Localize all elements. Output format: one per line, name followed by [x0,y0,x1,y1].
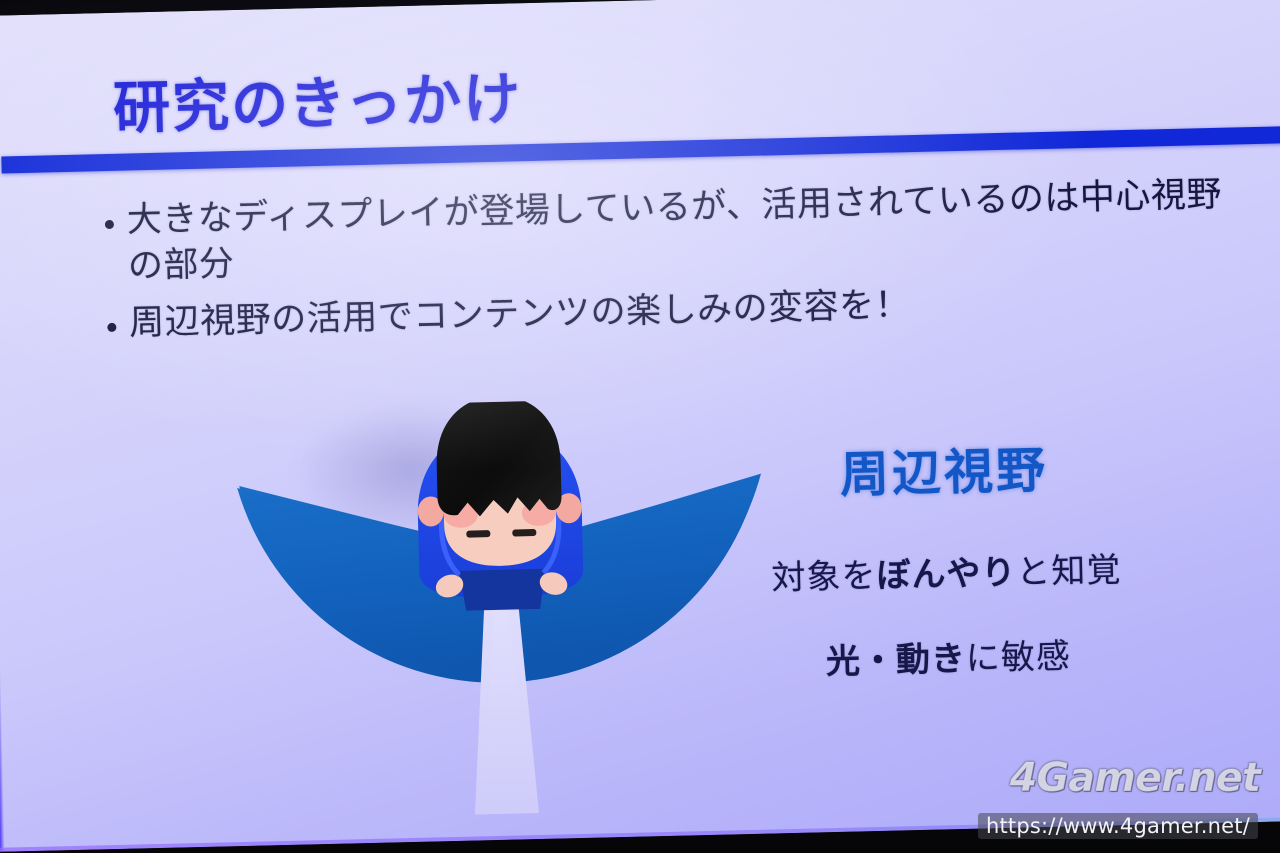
callout-heading: 周辺視野 [728,428,1160,509]
person-hair [435,395,562,517]
lens-fringe-left [0,16,5,852]
peripheral-vision-callout: 周辺視野 対象をぼんやりと知覚 光・動きに敏感 [728,428,1165,721]
list-item: 大きなディスプレイが登場しているが、活用されているのは中心視野の部分 [104,173,1226,290]
bullet-text: 大きなディスプレイが登場しているが、活用されているのは中心視野の部分 [126,173,1226,290]
callout-line-2-suffix: に敏感 [965,636,1071,678]
bullet-dot-icon [107,323,116,332]
callout-line-2: 光・動きに敏感 [733,626,1164,685]
list-item: 周辺視野の活用でコンテンツの楽しみの変容を！ [107,276,1228,348]
bullet-dot-icon [105,220,114,229]
left-eye [466,530,490,538]
right-eye [512,529,536,537]
callout-line-1-prefix: 対象を [771,556,877,598]
peripheral-vision-illustration [219,395,789,828]
watermark-url: https://www.4gamer.net/ [978,813,1258,839]
callout-line-1: 対象をぼんやりと知覚 [731,541,1162,600]
callout-line-1-bold: ぼんやり [876,553,1017,596]
photo-frame: 研究のきっかけ 大きなディスプレイが登場しているが、活用されているのは中心視野の… [0,0,1280,853]
vision-field-diagram [219,395,789,828]
watermark-brand: 4Gamer.net [1010,755,1260,801]
slide-title: 研究のきっかけ [112,53,523,145]
projected-slide: 研究のきっかけ 大きなディスプレイが登場しているが、活用されているのは中心視野の… [0,0,1280,852]
callout-line-1-suffix: と知覚 [1016,550,1122,592]
bullet-list: 大きなディスプレイが登場しているが、活用されているのは中心視野の部分 周辺視野の… [104,173,1227,360]
callout-line-2-bold: 光・動き [825,639,966,682]
slide-surface: 研究のきっかけ 大きなディスプレイが登場しているが、活用されているのは中心視野の… [0,0,1280,852]
bullet-text: 周辺視野の活用でコンテンツの楽しみの変容を！ [129,276,1228,347]
